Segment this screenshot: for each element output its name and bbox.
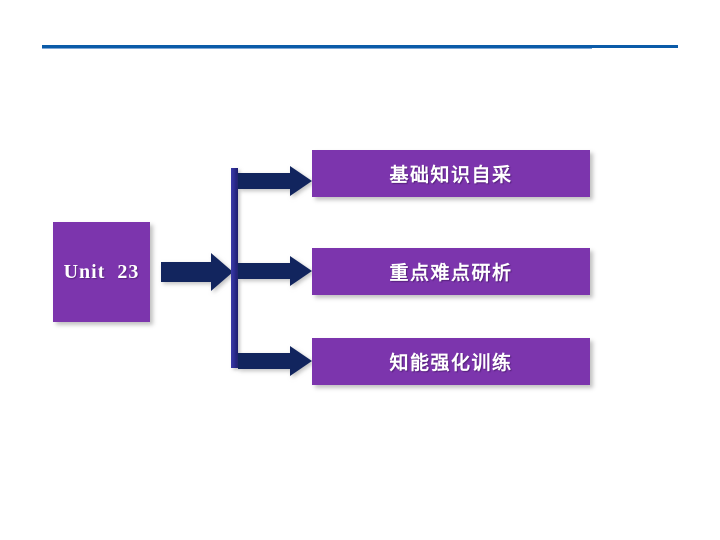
arrow-right-icon-branch-1	[238, 166, 312, 196]
unit-node[interactable]: Unit 23	[53, 222, 150, 322]
branch-node-2[interactable]: 重点难点研析	[312, 248, 590, 295]
unit-node-label: Unit 23	[64, 261, 140, 284]
header-divider-highlight	[42, 48, 592, 49]
arrow-right-icon-branch-2	[238, 256, 312, 286]
slide-canvas: Unit 23 基础知识自采 重点难点研析 知能强化训练	[0, 0, 720, 540]
branch-node-1-label: 基础知识自采	[389, 160, 512, 187]
trunk-connector	[231, 168, 238, 368]
branch-node-2-label: 重点难点研析	[389, 258, 512, 285]
branch-node-3[interactable]: 知能强化训练	[312, 338, 590, 385]
branch-node-3-label: 知能强化训练	[389, 348, 512, 375]
branch-node-1[interactable]: 基础知识自采	[312, 150, 590, 197]
arrow-right-icon-source	[161, 253, 233, 291]
arrow-right-icon-branch-3	[238, 346, 312, 376]
